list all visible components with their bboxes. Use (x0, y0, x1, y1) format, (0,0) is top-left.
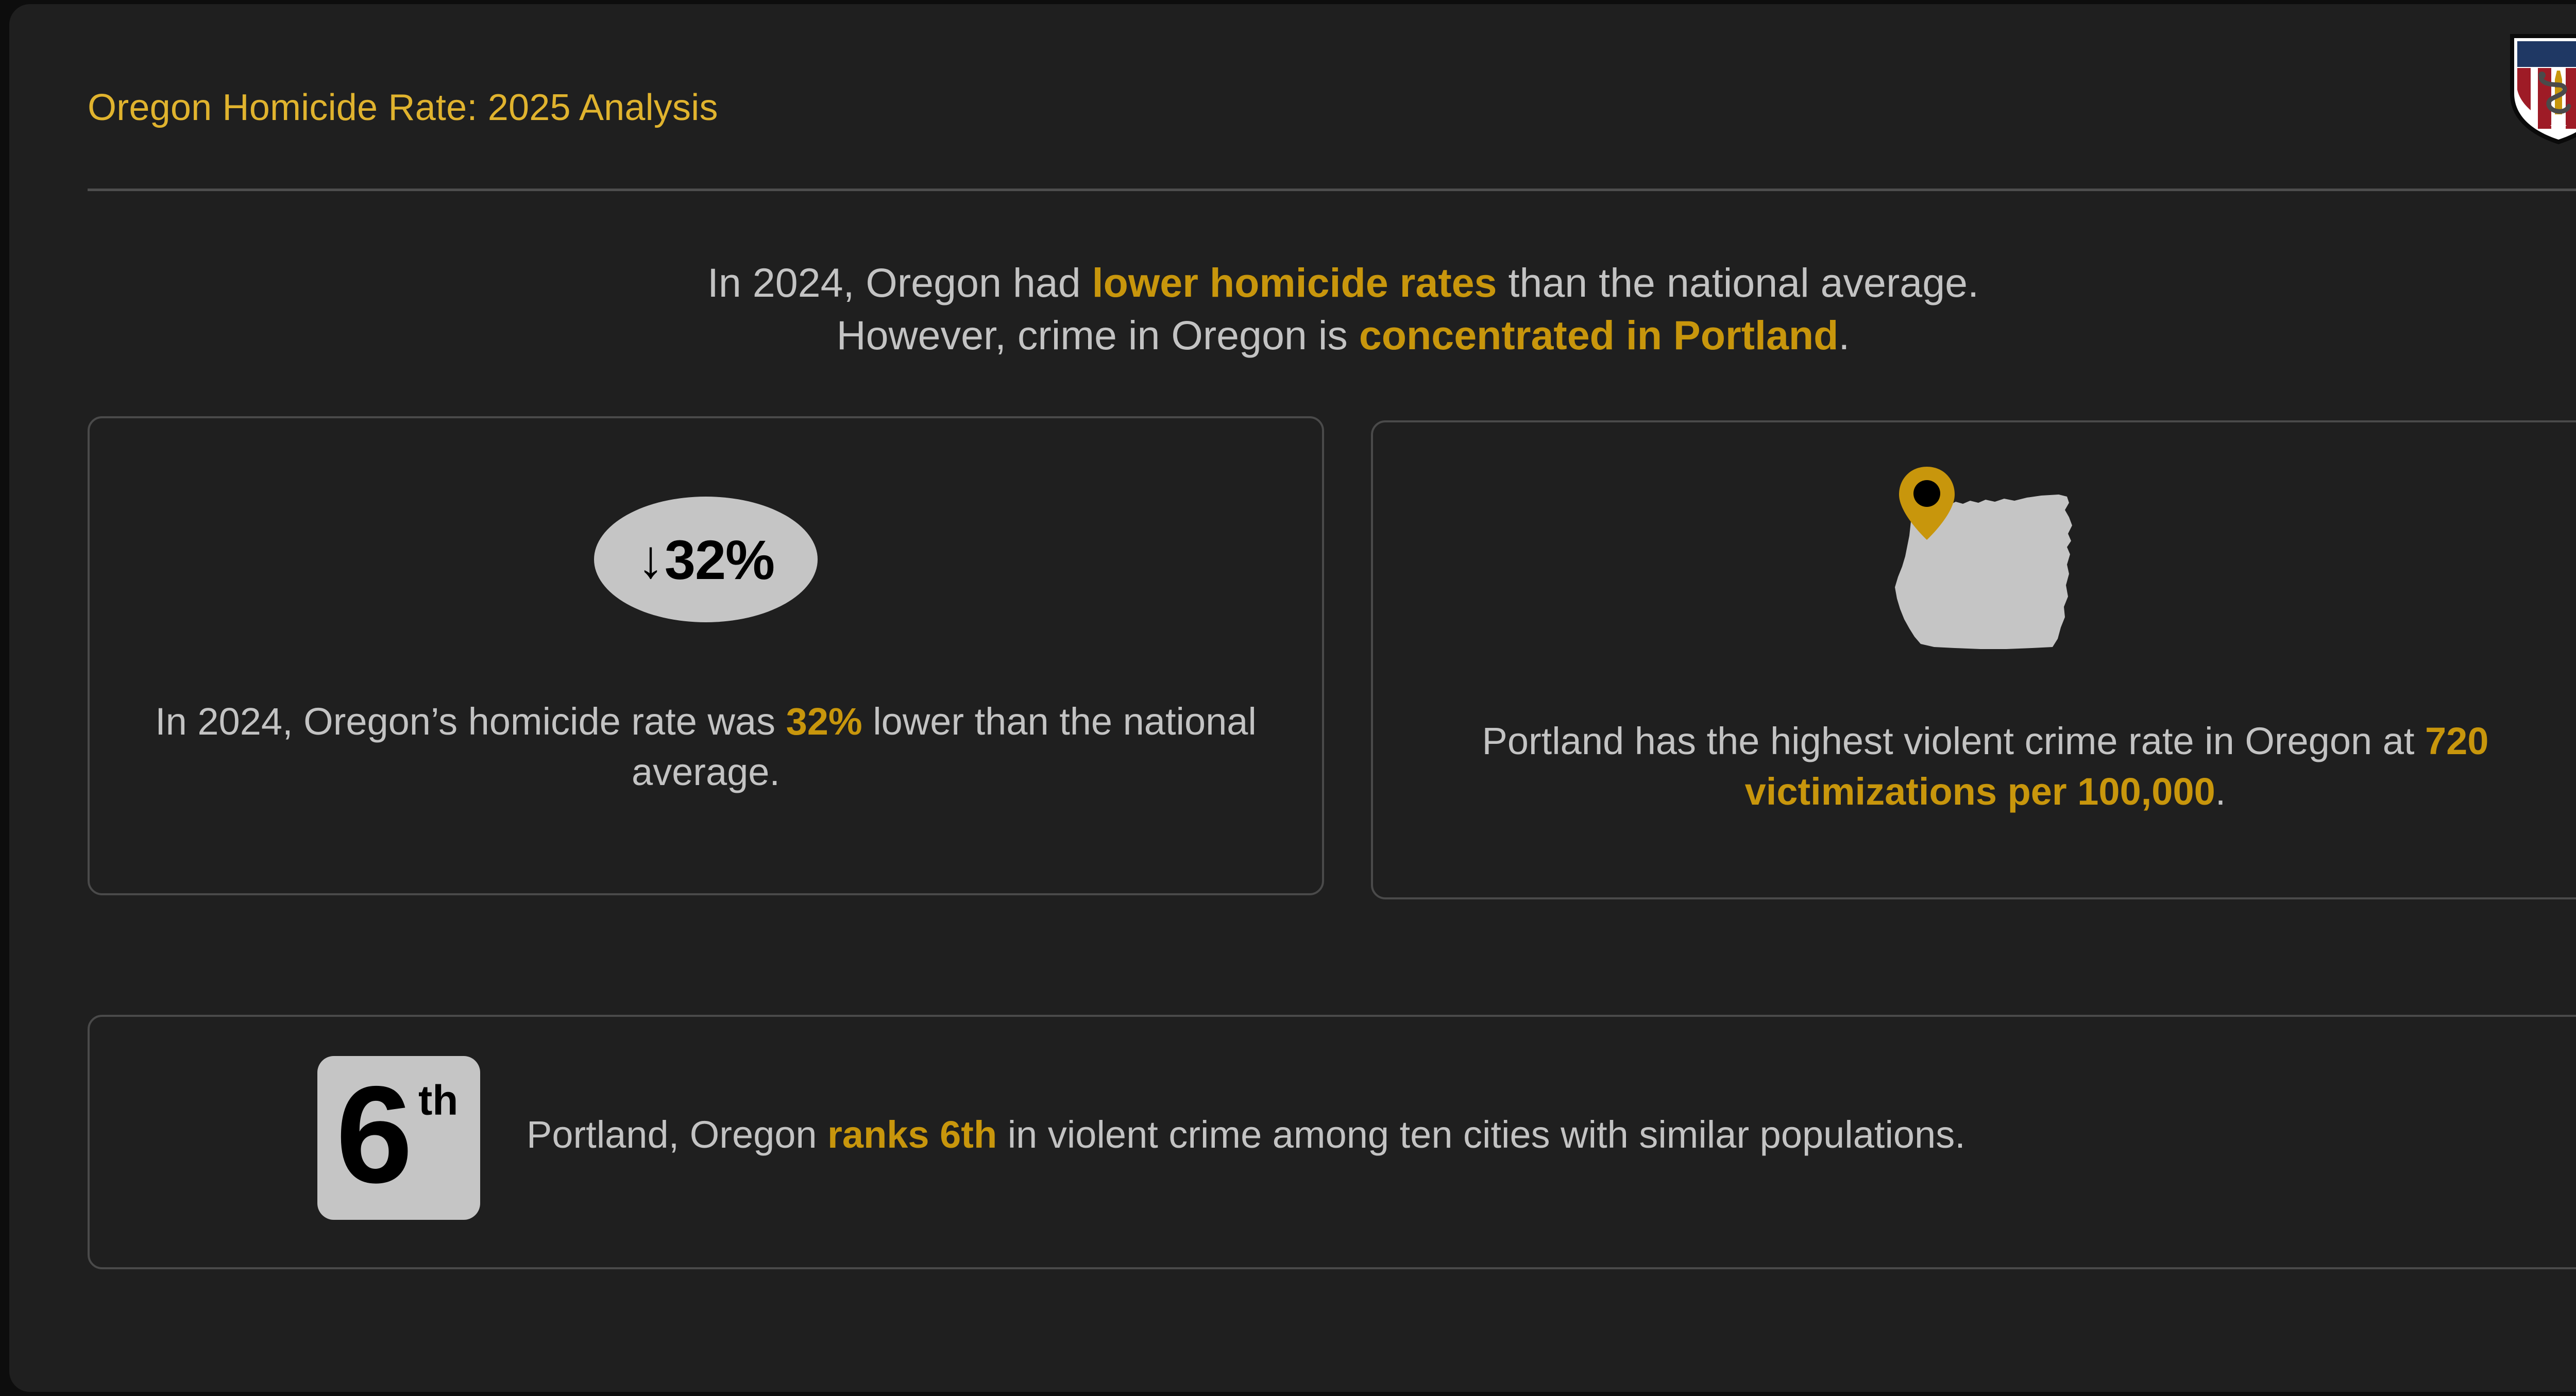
header-divider (88, 189, 2576, 191)
ranking-text-post: in violent crime among ten cities with s… (997, 1113, 1965, 1156)
homicide-rate-card: ↓32% In 2024, Oregon’s homicide rate was… (88, 416, 1324, 895)
portland-crime-caption: Portland has the highest violent crime r… (1404, 716, 2567, 817)
ranking-text-pre: Portland, Oregon (527, 1113, 827, 1156)
caption-pre: In 2024, Oregon’s homicide rate was (155, 700, 786, 743)
intro-line2-post: . (1838, 312, 1850, 358)
ranking-bar: 6 th Portland, Oregon ranks 6th in viole… (88, 1015, 2576, 1269)
ranking-text-highlight: ranks 6th (827, 1113, 997, 1156)
intro-line1-pre: In 2024, Oregon had (707, 260, 1092, 305)
ammo-com-shield-logo[interactable] (2507, 32, 2576, 146)
rank-suffix: th (418, 1080, 458, 1122)
rank-number: 6 (336, 1065, 413, 1203)
intro-text: In 2024, Oregon had lower homicide rates… (9, 257, 2576, 362)
intro-line1-post: than the national average. (1497, 260, 1979, 305)
homicide-rate-caption: In 2024, Oregon’s homicide rate was 32% … (121, 696, 1291, 797)
percent-value: 32% (665, 527, 774, 592)
caption-post: . (2215, 770, 2226, 813)
portland-crime-card: Portland has the highest violent crime r… (1371, 420, 2576, 899)
intro-line1-highlight: lower homicide rates (1092, 260, 1497, 305)
intro-line-1: In 2024, Oregon had lower homicide rates… (9, 257, 2576, 309)
page-title: Oregon Homicide Rate: 2025 Analysis (88, 87, 718, 129)
intro-line-2: However, crime in Oregon is concentrated… (9, 309, 2576, 362)
intro-line2-highlight: concentrated in Portland (1359, 312, 1839, 358)
arrow-down-icon: ↓ (637, 533, 664, 586)
intro-line2-pre: However, crime in Oregon is (837, 312, 1359, 358)
header: Oregon Homicide Rate: 2025 Analysis (9, 4, 2576, 191)
caption-pre: Portland has the highest violent crime r… (1482, 720, 2425, 762)
rank-badge: 6 th (317, 1056, 480, 1220)
shield-icon (2507, 32, 2576, 146)
infographic-panel: Oregon Homicide Rate: 2025 Analysis (9, 4, 2576, 1392)
ranking-text: Portland, Oregon ranks 6th in violent cr… (527, 1113, 1965, 1156)
percent-decrease-badge: ↓32% (594, 497, 818, 622)
caption-highlight: 32% (786, 700, 862, 743)
map-pin-icon (1877, 464, 2094, 659)
oregon-map-graphic (1877, 464, 2094, 659)
